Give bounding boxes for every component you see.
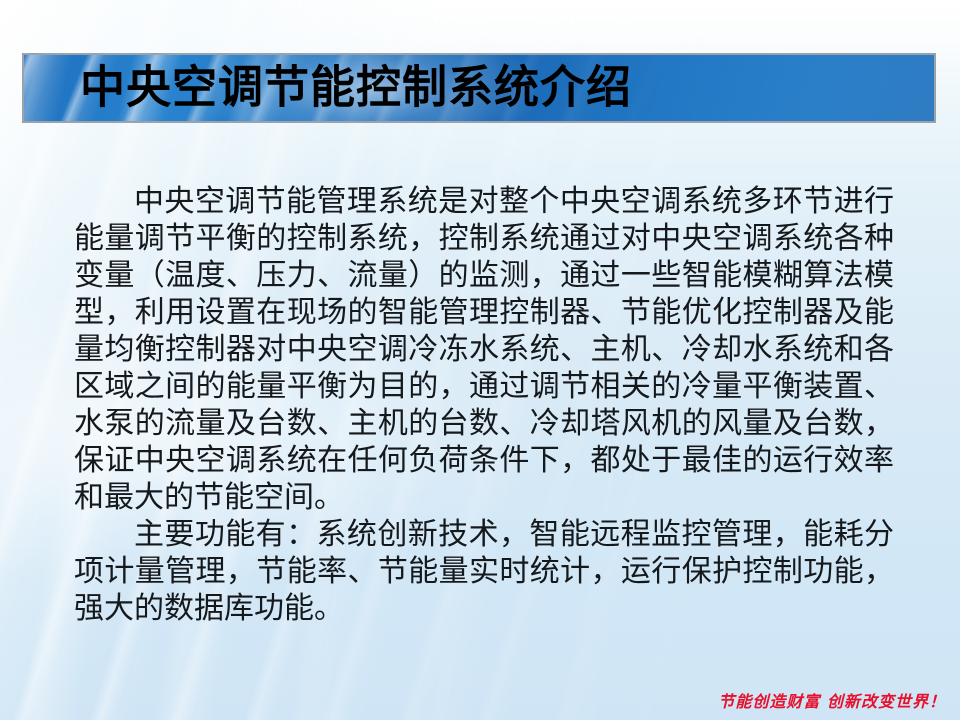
slide-body-text: 中央空调节能管理系统是对整个中央空调系统多环节进行能量调节平衡的控制系统，控制系… [74,183,894,627]
body-paragraph-1: 中央空调节能管理系统是对整个中央空调系统多环节进行能量调节平衡的控制系统，控制系… [74,183,894,516]
slide-title: 中央空调节能控制系统介绍 [80,65,632,110]
body-paragraph-2: 主要功能有：系统创新技术，智能远程监控管理，能耗分项计量管理，节能率、节能量实时… [74,516,894,627]
footer-slogan: 节能创造财富 创新改变世界！ [718,694,946,710]
presentation-slide: 中央空调节能控制系统介绍 中央空调节能管理系统是对整个中央空调系统多环节进行能量… [0,0,960,720]
slide-title-banner: 中央空调节能控制系统介绍 [22,53,936,123]
